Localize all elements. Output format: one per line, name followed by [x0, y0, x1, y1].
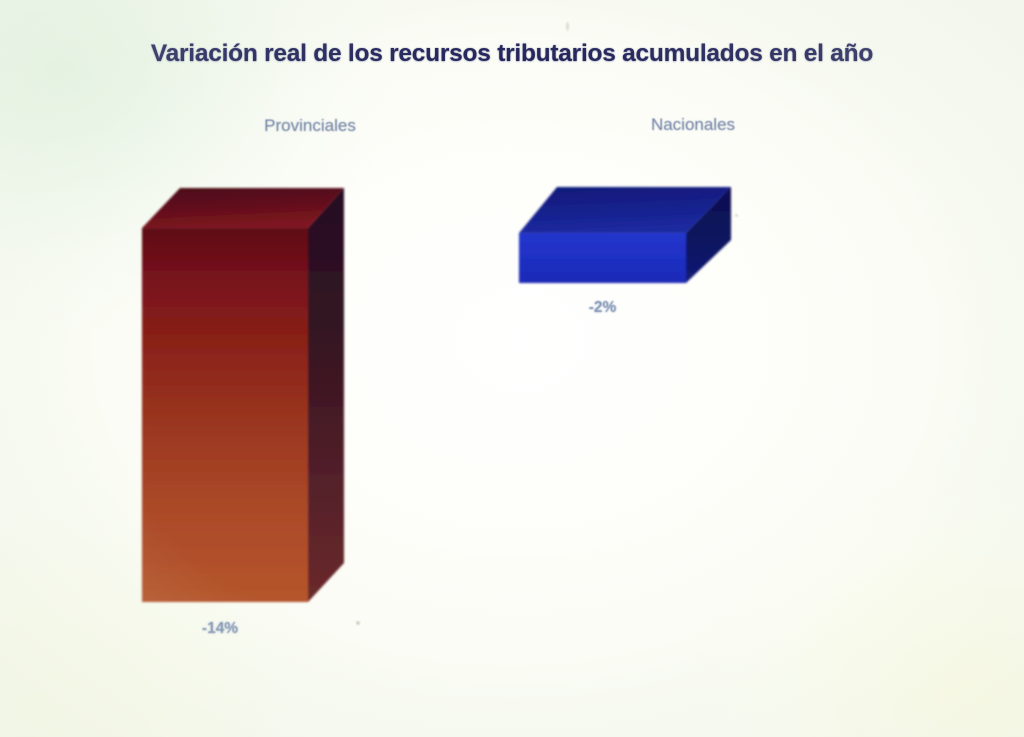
bar-provinciales-front — [142, 228, 308, 602]
dust-speck — [566, 22, 569, 31]
slide-canvas: Variación real de los recursos tributari… — [0, 0, 1024, 737]
dust-speck — [356, 621, 360, 625]
bar-provinciales-side — [308, 188, 344, 602]
bar-provinciales — [142, 188, 344, 602]
dust-speck — [735, 214, 738, 217]
bar-nacionales — [519, 187, 731, 283]
bar-value-label-nacionales: -2% — [515, 299, 690, 317]
bar-nacionales-front — [519, 233, 686, 283]
bar-value-label-provinciales: -14% — [130, 620, 310, 638]
